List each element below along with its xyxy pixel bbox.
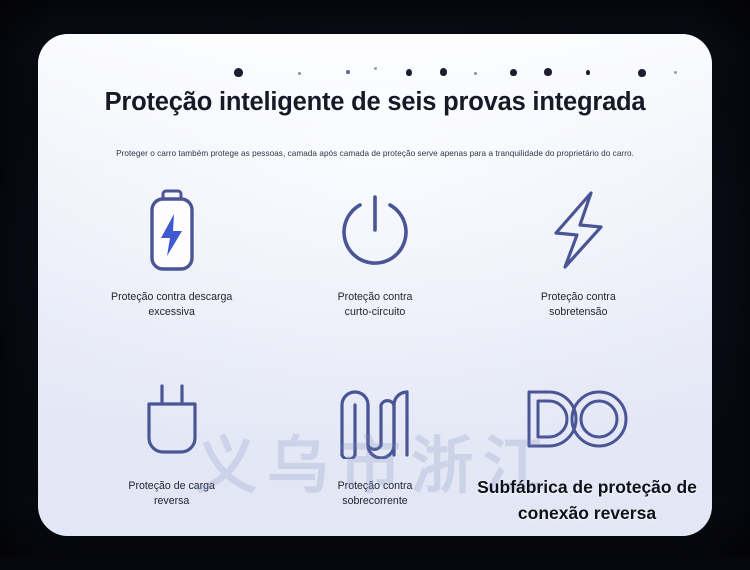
page-subtitle: Proteger o carro também protege as pesso…: [38, 149, 712, 158]
feature-label: Proteção contra sobretensão: [541, 290, 616, 320]
screenshot-viewport: 义乌市浙江电子 Proteção inteligente de seis pro…: [0, 0, 750, 570]
battery-charging-icon: [143, 184, 201, 276]
page-title: Proteção inteligente de seis provas inte…: [38, 88, 712, 117]
lightning-bolt-icon: [543, 184, 613, 276]
speckle-decoration: [38, 64, 712, 84]
feature-item-short-circuit[interactable]: Proteção contra curto-circuito: [273, 184, 476, 329]
feature-label: Proteção contra curto-circuito: [338, 290, 413, 320]
bottom-edge-shade: [0, 552, 750, 570]
feature-item-over-voltage[interactable]: Proteção contra sobretensão: [477, 184, 680, 329]
feature-item-over-discharge[interactable]: Proteção contra descarga excessiva: [70, 184, 273, 329]
feature-label: Proteção contra descarga excessiva: [111, 290, 232, 320]
overlay-headline: Subfábrica de proteção de conexão revers…: [452, 474, 722, 526]
power-button-icon: [336, 184, 414, 276]
